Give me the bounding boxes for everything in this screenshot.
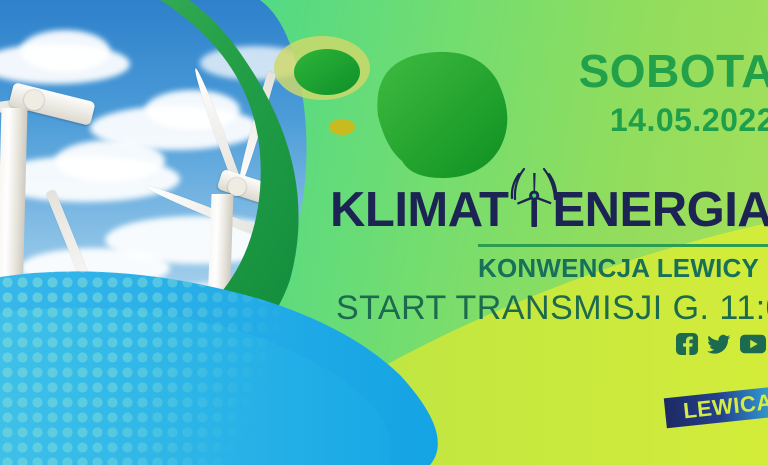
- blob-green-large: [377, 52, 507, 178]
- page-subtitle: KONWENCJA LEWICY: [478, 255, 759, 281]
- facebook-icon: [676, 333, 698, 355]
- event-day: SOBOTA: [579, 48, 768, 94]
- title-divider: [478, 244, 768, 247]
- event-date: 14.05.2022: [610, 104, 768, 136]
- facebook-link[interactable]: [676, 333, 698, 355]
- lewica-logo-text: LEWICA: [676, 391, 768, 423]
- twitter-icon: [707, 333, 731, 355]
- broadcast-time: START TRANSMISJI G. 11:00: [336, 291, 768, 325]
- youtube-icon: [740, 334, 766, 354]
- youtube-link[interactable]: [740, 334, 766, 354]
- title-part-1: KLIMAT: [330, 183, 508, 237]
- title-part-2: ENERGIA: [552, 183, 768, 237]
- twitter-link[interactable]: [707, 333, 731, 355]
- social-links: [676, 333, 766, 355]
- wind-turbine-icon: [505, 165, 563, 227]
- blob-green-small: [294, 49, 360, 95]
- blob-cluster: [260, 18, 520, 188]
- blob-dot-olive: [329, 119, 355, 135]
- poster-banner: SOBOTA 14.05.2022 KLIMATENERGIA KONWENCJ…: [0, 0, 768, 465]
